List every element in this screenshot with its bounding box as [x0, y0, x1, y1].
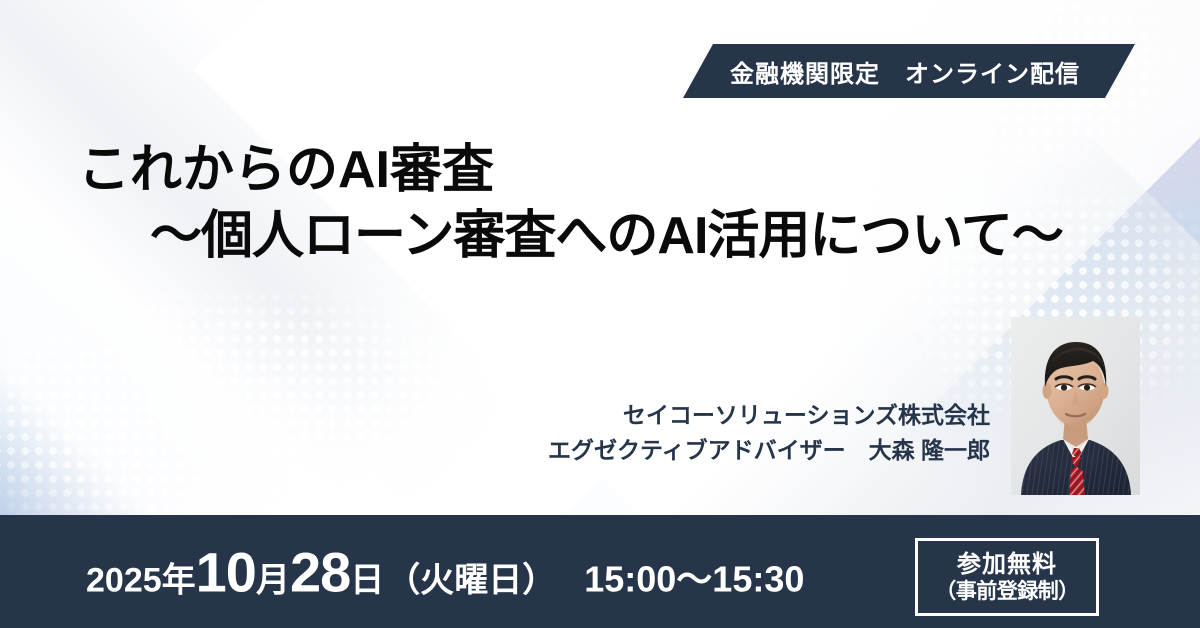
date-year: 2025年 — [86, 552, 196, 601]
speaker-role-and-name: エグゼクティブアドバイザー 大森 隆一郎 — [520, 433, 990, 468]
date-day-of-week: （火曜日） — [386, 552, 556, 601]
title-block: これからのAI審査 〜個人ローン審査へのAI活用について〜 — [0, 140, 1180, 267]
date-day-unit: 日 — [350, 552, 384, 601]
page-title-line1: これからのAI審査 — [0, 140, 1180, 200]
event-datetime: 2025年 10 月 28 日 （火曜日） 15:00〜15:30 — [86, 539, 804, 604]
date-month: 10 — [196, 539, 256, 604]
free-participation-badge: 参加無料 （事前登録制） — [915, 538, 1099, 616]
speaker-info: セイコーソリューションズ株式会社 エグゼクティブアドバイザー 大森 隆一郎 — [520, 398, 990, 468]
free-badge-line2: （事前登録制） — [935, 579, 1079, 605]
portrait-illustration — [1011, 317, 1140, 495]
date-month-unit: 月 — [256, 552, 290, 601]
date-day: 28 — [290, 539, 350, 604]
speaker-portrait-photo — [1011, 317, 1140, 495]
page-title-line2: 〜個人ローン審査へのAI活用について〜 — [0, 206, 1180, 266]
ribbon-badge: 金融機関限定 オンライン配信 — [683, 44, 1135, 98]
event-time: 15:00〜15:30 — [584, 550, 804, 602]
webinar-banner: 金融機関限定 オンライン配信 これからのAI審査 〜個人ローン審査へのAI活用に… — [0, 0, 1200, 628]
ribbon-label: 金融機関限定 オンライン配信 — [730, 54, 1080, 89]
speaker-company: セイコーソリューションズ株式会社 — [520, 398, 990, 433]
free-badge-line1: 参加無料 — [957, 550, 1057, 579]
